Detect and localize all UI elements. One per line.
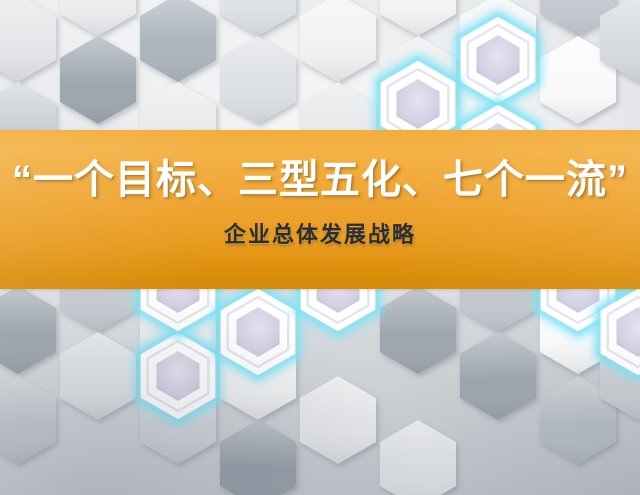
hexagon-tile bbox=[300, 376, 376, 464]
hexagon-tile bbox=[140, 0, 216, 82]
glowing-hexagon bbox=[137, 329, 218, 423]
page-title: “一个目标、三型五化、七个一流” bbox=[12, 158, 628, 203]
hexagon-tile bbox=[0, 376, 56, 464]
title-banner-content: “一个目标、三型五化、七个一流” 企业总体发展战略 bbox=[0, 130, 640, 289]
glowing-hexagon bbox=[457, 13, 538, 107]
hexagon-tile bbox=[220, 0, 296, 36]
hexagon-tile bbox=[220, 36, 296, 124]
hexagon-tile bbox=[300, 0, 376, 82]
hexagon-tile bbox=[380, 0, 456, 36]
presentation-slide: “一个目标、三型五化、七个一流” 企业总体发展战略 bbox=[0, 0, 640, 495]
glowing-hexagon bbox=[217, 285, 298, 379]
title-banner: “一个目标、三型五化、七个一流” 企业总体发展战略 bbox=[0, 130, 640, 289]
hexagon-tile bbox=[380, 420, 456, 495]
hexagon-tile bbox=[380, 286, 456, 374]
hexagon-tile bbox=[60, 36, 136, 124]
hexagon-tile bbox=[60, 332, 136, 420]
hexagon-tile bbox=[0, 286, 56, 374]
hexagon-tile bbox=[220, 420, 296, 495]
hexagon-tile bbox=[460, 332, 536, 420]
hexagon-tile bbox=[60, 0, 136, 36]
hexagon-tile bbox=[0, 0, 56, 82]
page-subtitle: 企业总体发展战略 bbox=[224, 217, 416, 249]
